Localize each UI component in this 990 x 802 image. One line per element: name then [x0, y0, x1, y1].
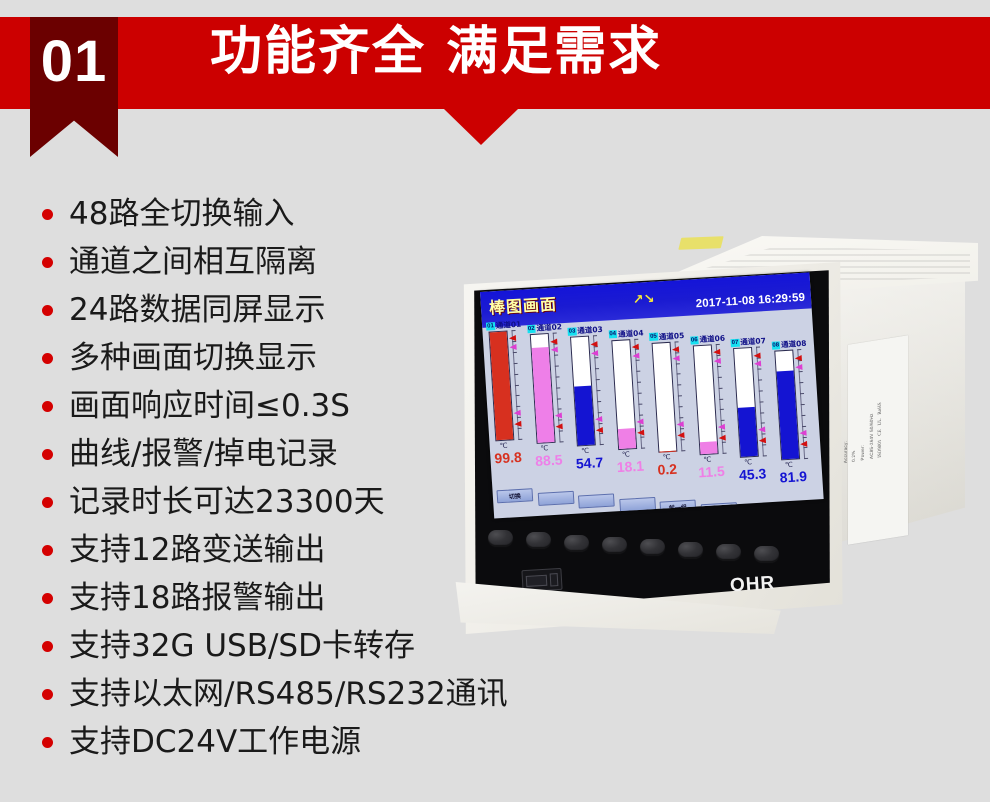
alarm-marker-low — [717, 424, 724, 430]
feature-label: 多种画面切换显示 — [69, 343, 317, 374]
channel-number: 06 — [690, 336, 699, 344]
scale-tick — [717, 366, 721, 367]
feature-label: 支持以太网/RS485/RS232通讯 — [69, 679, 508, 710]
list-item: 支持DC24V工作电源 — [42, 718, 602, 766]
scale-tick — [715, 344, 719, 345]
scale-tick — [635, 360, 639, 361]
feature-label: 通道之间相互隔离 — [69, 247, 317, 278]
scale-tick — [802, 436, 806, 437]
scale-tick — [722, 453, 726, 454]
channel-label: 通道08 — [781, 338, 807, 350]
scale-tick — [559, 442, 563, 443]
scale-tick — [641, 447, 645, 448]
scale-tick — [598, 412, 602, 413]
page-top-strip — [0, 0, 990, 17]
bullet-icon — [42, 353, 53, 364]
scale-tick — [598, 423, 602, 424]
scale-tick — [676, 363, 680, 364]
alarm-marker-high — [591, 350, 598, 356]
scale-tick — [677, 374, 681, 375]
ce-mark-icon: CE — [878, 429, 883, 436]
scale-tick — [517, 417, 521, 418]
scale-tick — [680, 428, 684, 429]
page-title: 功能齐全 满足需求 — [210, 26, 662, 78]
list-item: 支持以太网/RS485/RS232通讯 — [42, 670, 602, 718]
scale-tick — [678, 396, 682, 397]
alarm-marker-high — [550, 347, 557, 353]
alarm-marker-high — [713, 358, 720, 364]
panel-button-6[interactable] — [678, 542, 703, 558]
feature-label: 支持18路报警输出 — [69, 583, 325, 614]
alarm-marker-low-low — [636, 429, 643, 435]
panel-button-4[interactable] — [602, 537, 627, 553]
channel-label: 通道05 — [659, 330, 685, 342]
scale-tick — [513, 352, 517, 353]
lcd-softkey-1[interactable]: 切换 — [496, 488, 533, 503]
bullet-icon — [42, 449, 53, 460]
banner-pointer-icon — [444, 109, 518, 145]
label-line: Accuracy: — [842, 440, 851, 463]
scale-tick — [634, 338, 638, 339]
scale-tick — [761, 423, 765, 424]
channel-number: 03 — [567, 327, 576, 335]
scale-tick — [717, 377, 721, 378]
scale-tick — [756, 347, 760, 348]
bullet-icon — [42, 257, 53, 268]
alarm-marker-high-high — [631, 344, 638, 350]
feature-label: 24路数据同屏显示 — [69, 295, 325, 326]
channel-label: 通道07 — [740, 335, 766, 347]
iso-mark-icon: ISO9001 — [878, 439, 883, 458]
scale-tick — [518, 428, 522, 429]
bar-fill — [617, 428, 635, 449]
scale-tick — [674, 341, 678, 342]
alarm-marker-high — [632, 352, 639, 358]
alarm-marker-high — [754, 361, 761, 367]
scale-tick — [800, 404, 804, 405]
scale-tick — [636, 382, 640, 383]
lcd-display: 棒图画面 ↗↘ 2017-11-08 16:29:59 01通道01℃99.80… — [480, 272, 824, 518]
panel-button-1[interactable] — [488, 530, 513, 546]
alarm-marker-high-high — [550, 338, 557, 344]
alarm-marker-high — [672, 355, 679, 361]
alarm-marker-low-low — [677, 432, 684, 438]
scale-tick — [639, 414, 643, 415]
feature-label: 支持32G USB/SD卡转存 — [69, 631, 415, 662]
scale-tick — [797, 349, 801, 350]
section-number-ribbon: 01 — [30, 17, 118, 157]
channel-label: 通道02 — [536, 321, 562, 333]
bullet-icon — [42, 593, 53, 604]
alarm-marker-low-low — [555, 424, 562, 430]
scale-tick — [761, 434, 765, 435]
bullet-icon — [42, 401, 53, 412]
scale-tick — [679, 406, 683, 407]
channel-number: 04 — [608, 330, 617, 338]
feature-label: 48路全切换输入 — [69, 199, 294, 230]
scale-tick — [593, 336, 597, 337]
scale-tick — [600, 444, 604, 445]
bullet-icon — [42, 209, 53, 220]
feature-label: 支持DC24V工作电源 — [69, 727, 361, 758]
bullet-icon — [42, 305, 53, 316]
channel-number: 05 — [649, 333, 658, 341]
channel-number: 08 — [771, 341, 780, 349]
alarm-marker-low — [554, 413, 561, 419]
feature-label: 曲线/报警/掉电记录 — [69, 439, 338, 470]
alarm-marker-high — [509, 344, 516, 350]
alarm-marker-low-low — [799, 440, 806, 446]
channel-value: 99.8 — [494, 449, 522, 467]
alarm-marker-high-high — [794, 355, 801, 361]
label-line: Power: — [859, 444, 868, 461]
bar-fill — [531, 347, 554, 443]
scale-tick — [763, 455, 767, 456]
scale-tick — [721, 431, 725, 432]
bar-chart: 01通道01℃99.802通道02℃88.503通道03℃54.704通道04℃… — [482, 298, 822, 487]
scale-tick — [804, 458, 808, 459]
scale-tick — [681, 439, 685, 440]
scale-tick — [639, 425, 643, 426]
bar-fill — [738, 407, 758, 457]
scale-tick — [511, 330, 515, 331]
scale-tick — [799, 382, 803, 383]
alarm-marker-high-high — [509, 335, 516, 341]
alarm-marker-high-high — [672, 346, 679, 352]
section-number: 01 — [30, 33, 118, 91]
bullet-icon — [42, 737, 53, 748]
scale-tick — [720, 420, 724, 421]
scale-tick — [637, 393, 641, 394]
channel-number: 02 — [527, 324, 536, 332]
scale-tick — [718, 387, 722, 388]
alarm-marker-high-high — [753, 352, 760, 358]
bar-fill — [659, 450, 676, 451]
scale-tick — [759, 401, 763, 402]
promo-banner-page: 01 功能齐全 满足需求 48路全切换输入 通道之间相互隔离 24路数据同屏显示… — [0, 0, 990, 802]
scale-tick — [721, 442, 725, 443]
rohs-mark-icon: RoHS — [878, 402, 883, 415]
scale-tick — [719, 409, 723, 410]
scale-tick — [594, 357, 598, 358]
scale-tick — [514, 363, 518, 364]
scale-tick — [514, 373, 518, 374]
alarm-marker-low-low — [514, 421, 521, 427]
brand-logo: OHR — [729, 573, 775, 598]
alarm-marker-low — [799, 430, 806, 436]
scale-tick — [801, 415, 805, 416]
alarm-marker-low — [595, 416, 602, 422]
channel-number: 01 — [486, 322, 495, 330]
scale-tick — [638, 404, 642, 405]
scale-tick — [799, 393, 803, 394]
alarm-marker-low — [758, 427, 765, 433]
scale-tick — [558, 420, 562, 421]
scale-tick — [599, 433, 603, 434]
scale-tick — [719, 398, 723, 399]
bar-fill — [574, 386, 595, 446]
usb-slot-icon — [550, 573, 559, 586]
alarm-marker-low-low — [718, 435, 725, 441]
alarm-marker-high-high — [713, 349, 720, 355]
scale-tick — [595, 368, 599, 369]
sd-slot-icon — [526, 575, 548, 587]
label-line: AC85-264V 50/60Hz — [868, 413, 877, 460]
ul-mark-icon: UL — [878, 418, 883, 425]
alarm-marker-low-low — [596, 427, 603, 433]
scale-tick — [558, 431, 562, 432]
alarm-marker-low — [636, 418, 643, 424]
lcd-brand-mark-icon: ↗↘ — [632, 292, 655, 308]
channel-number: 07 — [730, 338, 739, 346]
lcd-softkey-3[interactable] — [578, 494, 615, 509]
channel-label: 通道06 — [699, 333, 725, 345]
alarm-marker-high-high — [590, 341, 597, 347]
scale-tick — [518, 439, 522, 440]
scale-tick — [803, 447, 807, 448]
scale-tick — [636, 371, 640, 372]
scale-tick — [596, 379, 600, 380]
bullet-icon — [42, 641, 53, 652]
scale-tick — [759, 390, 763, 391]
scale-tick — [556, 398, 560, 399]
scale-tick — [679, 417, 683, 418]
scale-tick — [515, 384, 519, 385]
scale-tick — [757, 368, 761, 369]
scale-tick — [557, 409, 561, 410]
product-device: Product Code: OHR-R20-A-0-A-2H/2/2P/U/2D… — [430, 230, 990, 650]
label-line: 0.2% — [850, 450, 859, 463]
panel-button-8[interactable] — [754, 546, 779, 562]
scale-tick — [640, 436, 644, 437]
scale-tick — [681, 450, 685, 451]
scale-tick — [758, 379, 762, 380]
scale-tick — [760, 412, 764, 413]
front-button-row[interactable] — [488, 530, 818, 570]
bullet-icon — [42, 689, 53, 700]
panel-button-2[interactable] — [526, 532, 551, 548]
scale-tick — [516, 406, 520, 407]
feature-label: 记录时长可达23300天 — [69, 487, 385, 518]
channel-value: 88.5 — [535, 452, 563, 470]
device-side-label: Product Code: OHR-R20-A-0-A-2H/2/2P/U/2D… — [848, 335, 908, 545]
panel-button-3[interactable] — [564, 535, 589, 551]
alarm-marker-low-low — [759, 438, 766, 444]
panel-button-5[interactable] — [640, 539, 665, 555]
alarm-marker-high — [795, 364, 802, 370]
alarm-marker-low — [677, 421, 684, 427]
certification-marks: ISO9001 CE UL RoHS — [878, 402, 883, 458]
panel-button-7[interactable] — [716, 544, 741, 560]
lcd-softkey-2[interactable] — [537, 491, 574, 506]
feature-label: 支持12路变送输出 — [69, 535, 325, 566]
channel-value: 54.7 — [575, 454, 603, 472]
bar-fill — [776, 371, 799, 460]
scale-tick — [554, 365, 558, 366]
scale-tick — [596, 390, 600, 391]
alarm-marker-low — [514, 410, 521, 416]
yellow-sticker — [678, 236, 723, 250]
scale-tick — [677, 385, 681, 386]
scale-tick — [516, 395, 520, 396]
channel-value: 18.1 — [616, 457, 644, 475]
scale-tick — [597, 401, 601, 402]
scale-tick — [798, 371, 802, 372]
scale-tick — [554, 354, 558, 355]
bullet-icon — [42, 497, 53, 508]
scale-tick — [556, 387, 560, 388]
scale-tick — [552, 333, 556, 334]
feature-label: 画面响应时间≤0.3S — [69, 391, 350, 422]
scale-tick — [555, 376, 559, 377]
channel-label: 通道01 — [495, 319, 521, 331]
channel-label: 通道03 — [577, 324, 603, 336]
scale-tick — [762, 445, 766, 446]
scale-tick — [802, 426, 806, 427]
bullet-icon — [42, 545, 53, 556]
channel-label: 通道04 — [618, 327, 644, 339]
bar-fill — [699, 441, 717, 454]
